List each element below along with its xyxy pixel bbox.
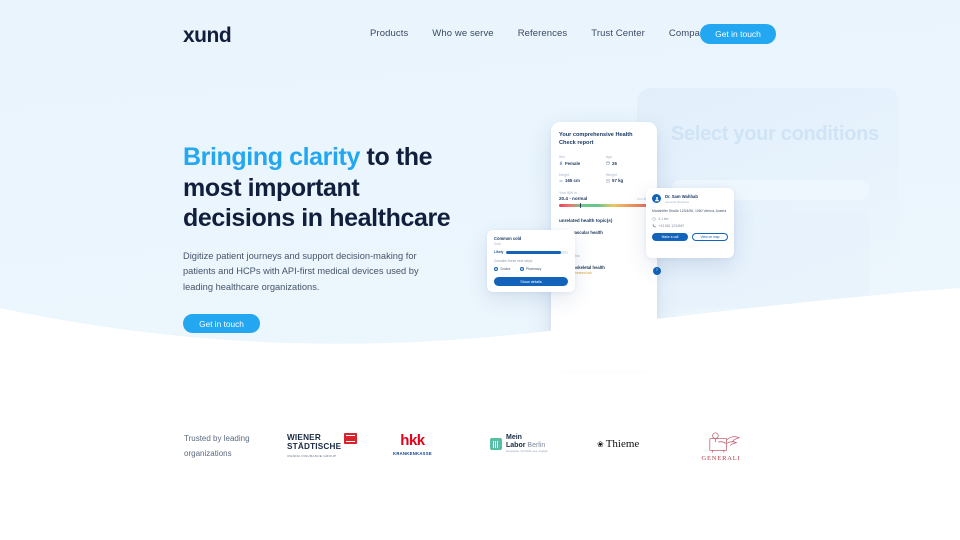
field-weight: Weight 57 kg: [606, 173, 649, 184]
doctor-actions: Make a call View on map: [652, 233, 728, 241]
wiener-line1: WIENER: [287, 433, 341, 442]
nav-item-who-we-serve[interactable]: Who we serve: [432, 28, 493, 39]
likelihood-bar: [506, 251, 568, 254]
labor-line2-light: Berlin: [525, 442, 545, 449]
field-height: Height 165 cm: [559, 173, 602, 184]
field-label: Age: [606, 155, 649, 159]
nav-links: Products Who we serve References Trust C…: [370, 28, 710, 39]
health-topics-title: unrelated health topic(s): [559, 218, 649, 223]
landing-page: Select your conditions Your comprehensiv…: [0, 0, 960, 540]
show-details-button[interactable]: Show details: [494, 277, 568, 286]
field-label: Sex: [559, 155, 602, 159]
field-sex: Sex Female: [559, 155, 602, 166]
option-pharmacy[interactable]: Pharmacy: [520, 267, 542, 271]
doctor-header: Dr. Sam Wahhab General Medicine: [652, 194, 728, 204]
nav-item-trust-center[interactable]: Trust Center: [591, 28, 645, 39]
logo-hkk: hkk KRANKENKASSE: [393, 433, 432, 456]
hero-get-in-touch-button[interactable]: Get in touch: [183, 314, 260, 333]
bmi-row: 20.4 - normal Your BMI: [559, 195, 649, 201]
nav-item-products[interactable]: Products: [370, 28, 408, 39]
radio-icon[interactable]: [520, 267, 524, 271]
select-conditions-title: Select your conditions: [671, 122, 879, 147]
doctor-specialty: General Medicine: [665, 200, 698, 204]
wiener-line2: STÄDTISCHE: [287, 442, 341, 451]
doctor-distance-row: 4.1 km: [652, 217, 728, 221]
conditions-progress-bar: [671, 316, 869, 321]
hero-copy: Bringing clarity to the most important d…: [183, 142, 468, 333]
diagnosis-subtitle: Cold: [494, 242, 568, 246]
bmi-scale-bar: [559, 204, 649, 207]
diagnosis-title: Common cold: [494, 236, 568, 241]
clock-icon: [652, 217, 656, 221]
chevron-right-icon[interactable]: ›: [653, 267, 661, 275]
logo-wiener-staedtische: WIENER STÄDTISCHE VIENNA INSURANCE GROUP: [287, 433, 357, 458]
field-value: 57 kg: [612, 178, 623, 183]
radio-icon[interactable]: [494, 267, 498, 271]
field-value: 165 cm: [565, 178, 580, 183]
trusted-logos-strip: Trusted by leading organizations WIENER …: [0, 425, 960, 475]
thieme-mark-icon: ❀: [597, 440, 604, 449]
field-value-wrap: 26: [606, 161, 649, 166]
hkk-subtitle: KRANKENKASSE: [393, 451, 432, 456]
view-on-map-button[interactable]: View on map: [692, 233, 728, 241]
headline-accent: Bringing clarity: [183, 143, 360, 171]
health-report-title: Your comprehensive Health Check report: [559, 131, 649, 147]
logo-mein-labor-berlin: Mein Labor Berlin Europaweit. Von Berlin…: [490, 434, 548, 454]
bmi-section: Your BMI is 20.4 - normal Your BMI: [559, 191, 649, 207]
option-label: Doctor: [501, 267, 511, 271]
generali-lion-icon: [700, 430, 742, 454]
doctor-distance: 4.1 km: [659, 217, 669, 221]
calendar-icon: [606, 161, 610, 165]
make-call-button[interactable]: Make a call: [652, 233, 688, 241]
labor-mark-icon: [490, 438, 502, 450]
person-icon: [559, 161, 563, 165]
labor-line2-bold: Labor: [506, 442, 525, 449]
field-label: Weight: [606, 173, 649, 177]
page-title: Bringing clarity to the most important d…: [183, 142, 468, 234]
field-value-wrap: 165 cm: [559, 178, 602, 183]
health-report-fields: Sex Female Age 26 Height 165 cm: [559, 155, 649, 183]
powered-by-footer: Powered by xund: [551, 332, 657, 336]
doctor-address: Mariahilfer Straße 123/4/56, 1060 Vienna…: [652, 209, 728, 214]
logo-thieme: ❀ Thieme: [597, 438, 639, 450]
labor-line1: Mein: [506, 434, 548, 442]
option-doctor[interactable]: Doctor: [494, 267, 511, 271]
labor-subtitle: Europaweit. Von Berlin aus. Analytik.: [506, 451, 548, 454]
next-steps-options: Doctor Pharmacy: [494, 267, 568, 271]
hkk-wordmark: hkk: [400, 433, 424, 448]
wiener-mark-icon: [344, 433, 357, 444]
trusted-label: Trusted by leading organizations: [184, 432, 279, 462]
powered-by-text: Powered by: [591, 332, 610, 336]
generali-wordmark: GENERALI: [702, 455, 741, 462]
bmi-value: 20.4 - normal: [559, 196, 587, 201]
field-age: Age 26: [606, 155, 649, 166]
thieme-wordmark: Thieme: [606, 438, 640, 450]
field-value-wrap: Female: [559, 161, 602, 166]
field-value-wrap: 57 kg: [606, 178, 649, 183]
next-steps-question: Consider these next steps:: [494, 259, 568, 263]
option-label: Pharmacy: [526, 267, 541, 271]
doctor-phone-row: +43 681 1234567: [652, 224, 728, 228]
field-value: 26: [612, 161, 617, 166]
wiener-subtitle: VIENNA INSURANCE GROUP: [287, 454, 336, 458]
brand-logo[interactable]: xund: [183, 24, 231, 48]
phone-icon: [652, 224, 656, 228]
diagnosis-card: Common cold Cold Likely Consider these n…: [487, 230, 575, 292]
doctor-name: Dr. Sam Wahhab: [665, 194, 698, 199]
likelihood-row: Likely: [494, 250, 568, 254]
field-value: Female: [565, 161, 580, 166]
likelihood-label: Likely: [494, 250, 503, 254]
doctor-card: Dr. Sam Wahhab General Medicine Mariahil…: [646, 188, 734, 258]
logo-generali: GENERALI: [700, 430, 742, 462]
top-navigation: xund Products Who we serve References Tr…: [0, 0, 960, 68]
scale-icon: [606, 179, 610, 183]
doctor-phone: +43 681 1234567: [659, 224, 685, 228]
nav-item-references[interactable]: References: [518, 28, 568, 39]
nav-get-in-touch-button[interactable]: Get in touch: [700, 24, 776, 44]
hero-subcopy: Digitize patient journeys and support de…: [183, 249, 445, 297]
doctor-icon: [652, 194, 661, 203]
field-label: Height: [559, 173, 602, 177]
powered-by-brand: xund: [609, 332, 617, 336]
ruler-icon: [559, 179, 563, 183]
